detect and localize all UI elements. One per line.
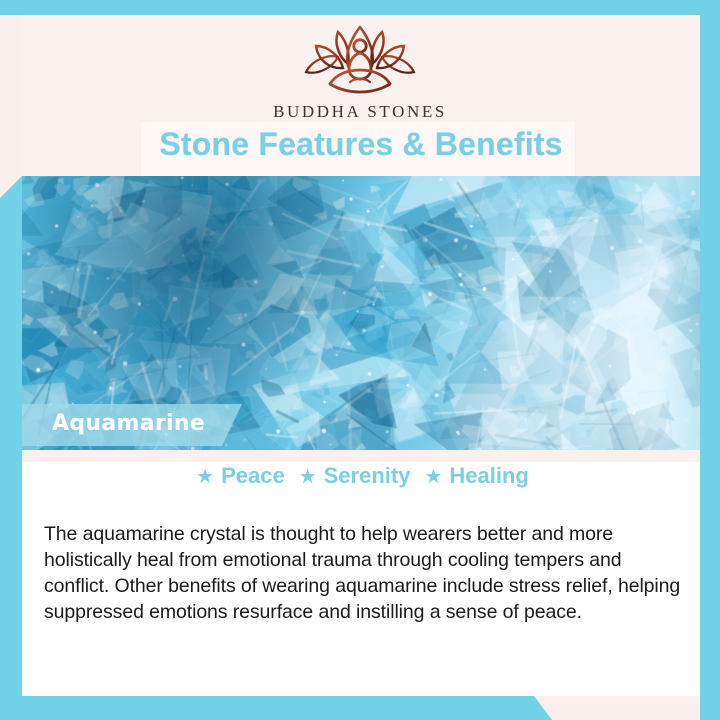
keyword-row: ★Peace★Serenity★Healing: [22, 463, 703, 489]
stone-description: The aquamarine crystal is thought to hel…: [44, 521, 684, 625]
keyword-peace: Peace: [221, 463, 285, 489]
star-icon: ★: [299, 464, 317, 489]
keyword-healing: Healing: [449, 463, 528, 489]
frame-band-bottom: [0, 696, 552, 720]
poster-root: Aquamarine: [0, 0, 720, 720]
lotus-meditation-icon: [294, 24, 426, 96]
brand-name: BUDDHA STONES: [0, 102, 720, 122]
page-title: Stone Features & Benefits: [22, 126, 700, 163]
brand-logo: BUDDHA STONES: [0, 24, 720, 122]
star-icon: ★: [196, 464, 214, 489]
star-icon: ★: [424, 464, 442, 489]
frame-band-left: [0, 176, 22, 696]
stone-name-label: Aquamarine: [52, 411, 205, 436]
keyword-serenity: Serenity: [324, 463, 411, 489]
frame-band-right: [700, 0, 720, 720]
frame-band-top: [0, 0, 720, 15]
